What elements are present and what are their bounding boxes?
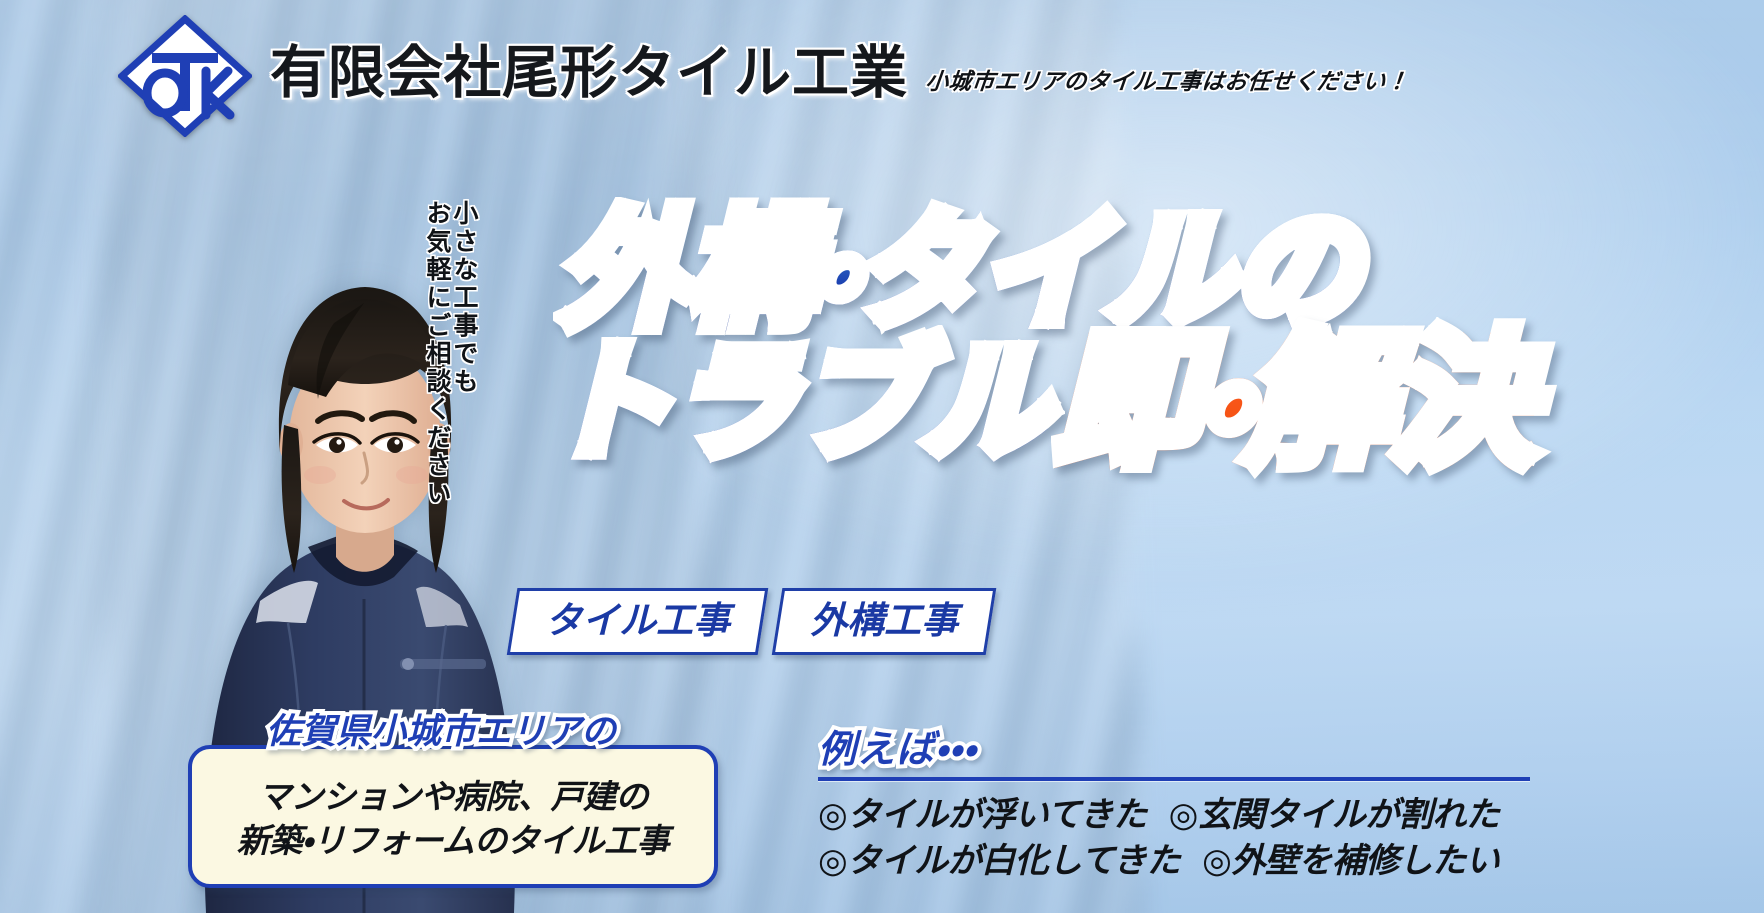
service-area-box: マンションや病院、戸建の 新築・リフォームのタイル工事 [188, 745, 718, 888]
examples-section: 例えば・・・ ◎タイルが浮いてきた ◎玄関タイルが割れた ◎タイルが白化してきた… [818, 718, 1548, 884]
vertical-side-copy: 小さな工事でも お気軽にご相談ください [424, 200, 476, 508]
examples-row: ◎タイルが白化してきた ◎外壁を補修したい [818, 839, 1548, 885]
examples-title: 例えば・・・ [818, 718, 1548, 773]
vertical-copy-line-2: お気軽にご相談ください [424, 200, 449, 508]
site-header: 有限会社尾形タイル工業 小城市エリアのタイル工事はお任せください！ [0, 0, 1764, 152]
hero-headline: 外構・タイルの トラブル 即・解決 [560, 212, 1534, 464]
headline-row-2: トラブル 即・解決 [544, 326, 1534, 463]
service-tag-label: タイル工事 [545, 600, 730, 641]
service-area-panel: 佐賀県小城市エリアの マンションや病院、戸建の 新築・リフォームのタイル工事 [188, 745, 718, 888]
examples-row: ◎タイルが浮いてきた ◎玄関タイルが割れた [818, 793, 1548, 839]
hero-banner: 有限会社尾形タイル工業 小城市エリアのタイル工事はお任せください！ 小さな工事で… [0, 0, 1764, 913]
service-tag-tile-work[interactable]: タイル工事 [507, 588, 769, 655]
headline-text-solution: 即・解決 [1054, 332, 1534, 469]
company-name: 有限会社尾形タイル工業 [270, 45, 908, 102]
service-tag-label: 外構工事 [810, 600, 958, 641]
otk-diamond-logo-icon[interactable] [118, 15, 252, 137]
service-tag-exterior-work[interactable]: 外構工事 [772, 588, 997, 655]
service-area-line-2: 新築・リフォームのタイル工事 [210, 819, 696, 863]
example-item: ◎タイルが浮いてきた [818, 793, 1147, 839]
example-item: ◎タイルが白化してきた [818, 839, 1180, 885]
vertical-copy-line-1: 小さな工事でも [451, 200, 476, 508]
service-area-heading: 佐賀県小城市エリアの [266, 703, 616, 754]
headline-text-primary: 外構・タイルの [560, 212, 1358, 332]
example-item: ◎外壁を補修したい [1202, 839, 1499, 885]
service-area-line-1: マンションや病院、戸建の [210, 775, 696, 819]
service-tag-list: タイル工事 外構工事 [512, 588, 991, 655]
examples-divider [818, 777, 1530, 781]
headline-text-trouble: トラブル [544, 343, 1048, 463]
headline-row-1: 外構・タイルの [560, 212, 1534, 332]
header-tagline: 小城市エリアのタイル工事はお任せください！ [924, 64, 1410, 96]
example-item: ◎玄関タイルが割れた [1169, 793, 1500, 839]
